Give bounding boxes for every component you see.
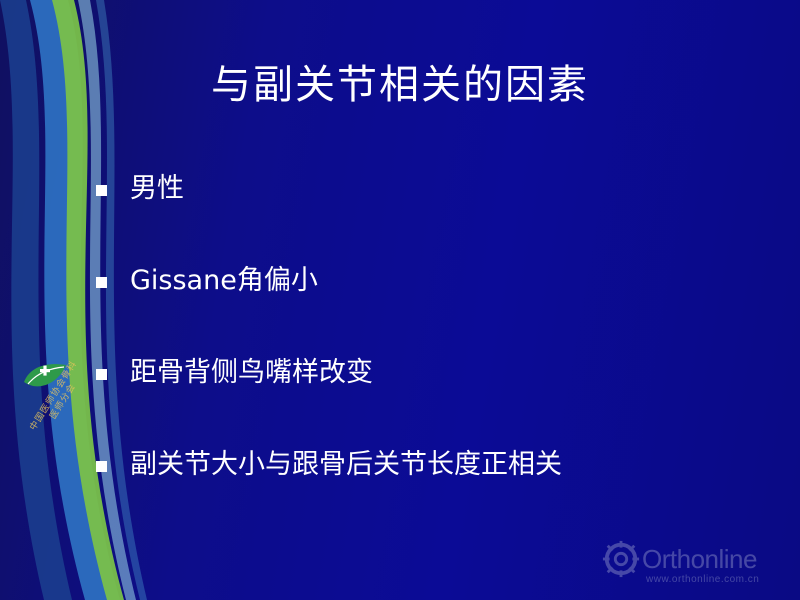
slide-title: 与副关节相关的因素 [0, 52, 800, 110]
logo-ring-text: 中国医师协会骨科医师分会 [16, 388, 102, 488]
bullet-list: 男性 Gissane角偏小 距骨背侧鸟嘴样改变 副关节大小与跟骨后关节长度正相关 [96, 172, 756, 540]
list-item: 副关节大小与跟骨后关节长度正相关 [96, 448, 756, 490]
organization-logo: 中国医师协会骨科医师分会 [16, 362, 102, 492]
list-item: Gissane角偏小 [96, 264, 756, 306]
bullet-text: 男性 [130, 172, 184, 206]
watermark-brand: Orthonline [642, 544, 757, 575]
gear-icon [602, 540, 640, 578]
list-item: 距骨背侧鸟嘴样改变 [96, 356, 756, 398]
bullet-text: 距骨背侧鸟嘴样改变 [130, 356, 373, 390]
bullet-text: Gissane角偏小 [130, 264, 318, 298]
slide-canvas: 与副关节相关的因素 男性 Gissane角偏小 距骨背侧鸟嘴样改变 副关节大小与… [0, 0, 800, 600]
bullet-text: 副关节大小与跟骨后关节长度正相关 [130, 448, 562, 482]
list-item: 男性 [96, 172, 756, 214]
watermark-url: www.orthonline.com.cn [646, 574, 759, 585]
square-bullet-icon [96, 185, 107, 196]
watermark: Orthonline www.orthonline.com.cn [600, 536, 790, 592]
square-bullet-icon [96, 277, 107, 288]
